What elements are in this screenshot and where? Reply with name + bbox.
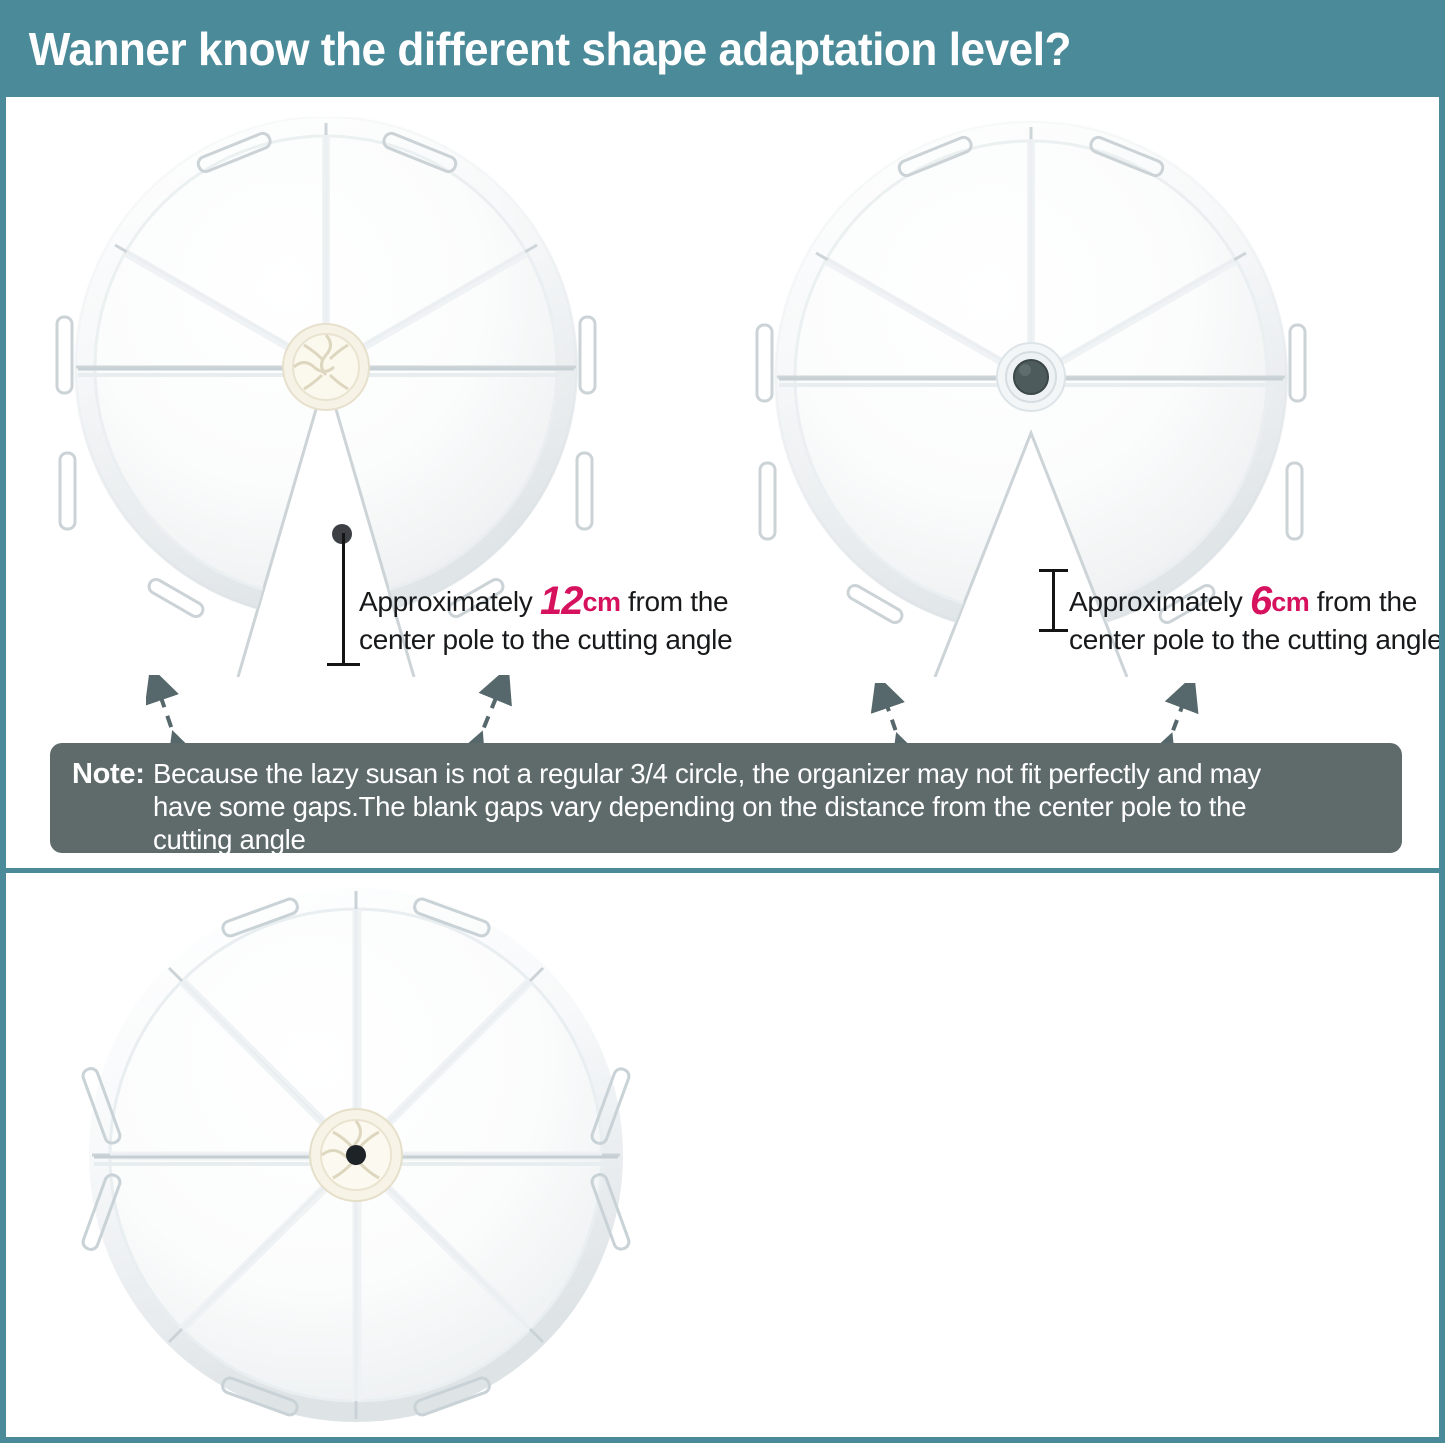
dimension-suffix2-right: center pole to the cutting angle [1069,624,1442,655]
note-label: Note: [72,757,153,792]
dimension-unit-right: cm [1271,587,1309,617]
note-line-3: cutting angle [153,824,306,855]
center-hub [283,324,369,410]
dimension-suffix2-left: center pole to the cutting angle [359,624,732,655]
dimension-line-left [342,533,345,665]
dimension-prefix-right: Approximately [1069,586,1243,617]
dimension-line-right [1052,569,1055,631]
dimension-tick-left [327,663,360,666]
note-line-1: Because the lazy susan is not a regular … [153,758,1261,789]
product-image-whole-circle [76,883,636,1428]
dimension-suffix1-right: from the [1317,586,1417,617]
dimension-tick-bottom-right [1039,629,1068,632]
dimension-label-12cm: Approximately 12cm from the center pole … [359,579,732,655]
note-line-2: have some gaps.The blank gaps vary depen… [153,791,1246,822]
dimension-value-right: 6 [1250,579,1271,623]
center-hub [310,1109,402,1201]
frame-border-right [1439,0,1445,1443]
note-box: Note: Because the lazy susan is not a re… [50,743,1402,853]
lower-whole-circle-panel: Eight of them form a regular whole circl… [6,873,1439,1437]
header-banner: Wanner know the different shape adaptati… [0,0,1445,97]
center-hub [997,343,1065,411]
dimension-unit-left: cm [583,587,621,617]
frame-border-left [0,0,6,1443]
dimension-value-left: 12 [540,579,583,623]
dimension-prefix-left: Approximately [359,586,533,617]
infographic-page: Wanner know the different shape adaptati… [0,0,1445,1443]
dimension-suffix1-left: from the [628,586,728,617]
frame-border-bottom [0,1437,1445,1443]
note-text: Because the lazy susan is not a regular … [153,757,1261,856]
section-divider [0,868,1445,873]
page-title: Wanner know the different shape adaptati… [0,22,1071,76]
dimension-label-6cm: Approximately 6cm from the center pole t… [1069,579,1442,655]
